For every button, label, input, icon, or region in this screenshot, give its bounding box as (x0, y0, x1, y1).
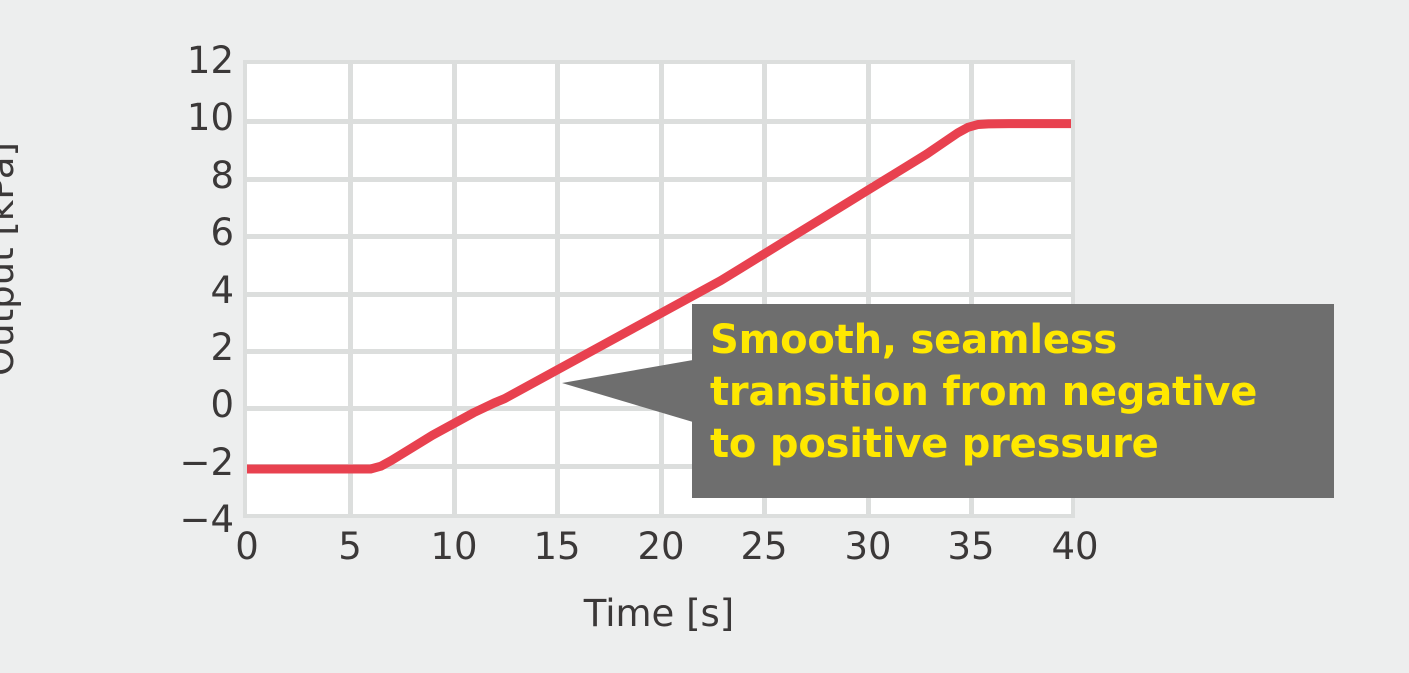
y-tick-label: 0 (210, 386, 234, 423)
plot-area (243, 60, 1075, 518)
series-line-output (247, 64, 1071, 514)
x-tick-label: 35 (947, 528, 994, 565)
x-tick-label: 10 (430, 528, 477, 565)
x-axis-title: Time [s] (243, 592, 1075, 635)
x-tick-label: 20 (637, 528, 684, 565)
x-tick-label: 30 (844, 528, 891, 565)
x-tick-label: 40 (1051, 528, 1098, 565)
y-tick-label: 10 (187, 99, 234, 136)
y-axis-title: Output [kPa] (0, 30, 30, 488)
y-tick-label: 6 (210, 214, 234, 251)
x-tick-label: 25 (740, 528, 787, 565)
chart-figure: 12 10 8 6 4 2 0 −2 −4 Output [kPa] (0, 0, 1409, 673)
y-tick-label: 8 (210, 157, 234, 194)
y-tick-label: 4 (210, 272, 234, 309)
y-tick-label: 12 (187, 42, 234, 79)
x-tick-label: 15 (533, 528, 580, 565)
x-tick-label: 0 (235, 528, 259, 565)
plot-inner (247, 64, 1071, 514)
y-tick-label: −2 (179, 444, 234, 481)
y-tick-label: 2 (210, 329, 234, 366)
x-tick-label: 5 (338, 528, 362, 565)
y-tick-label: −4 (179, 501, 234, 538)
